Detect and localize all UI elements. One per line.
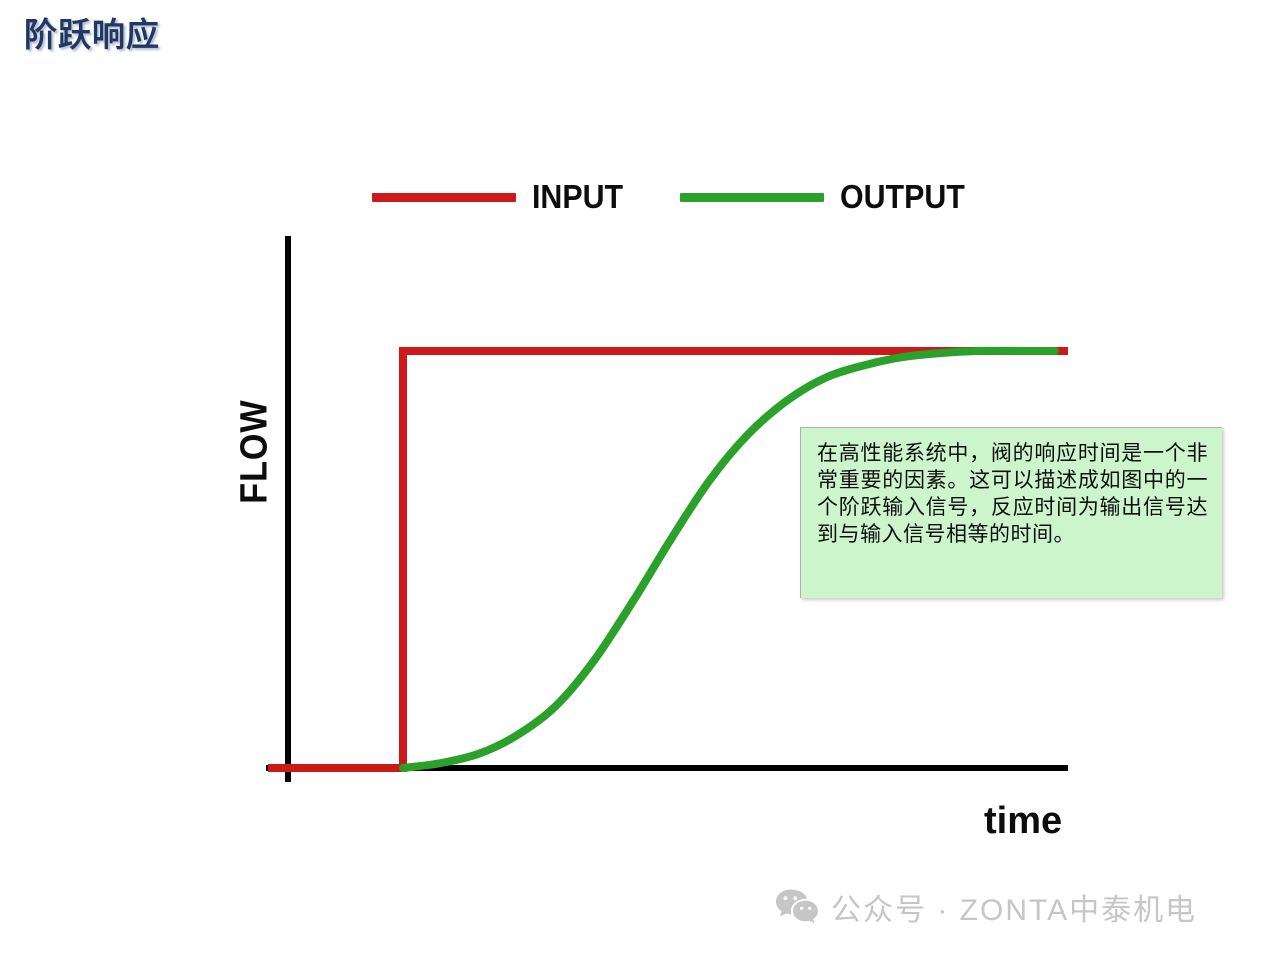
legend-label-output: OUTPUT [840,178,965,216]
legend-item-output: OUTPUT [680,172,976,222]
watermark-text: 公众号 · ZONTA中泰机电 [831,885,1197,929]
chart-legend: INPUT OUTPUT [360,172,1080,222]
red-line-swatch-icon [372,193,516,202]
x-axis-label: time [984,800,1062,843]
page-title: 阶跃响应 [24,8,160,56]
legend-item-input: INPUT [372,172,631,222]
wechat-icon [775,888,819,926]
slide-canvas: 阶跃响应 INPUT OUTPUT FLOW time 在高性能系统中，阀的响应… [0,0,1280,960]
y-axis-label: FLOW [234,352,277,552]
legend-label-input: INPUT [532,178,623,216]
green-line-swatch-icon [680,193,824,202]
watermark: 公众号 · ZONTA中泰机电 [775,885,1197,929]
annotation-callout: 在高性能系统中，阀的响应时间是一个非常重要的因素。这可以描述成如图中的一个阶跃输… [800,427,1222,598]
